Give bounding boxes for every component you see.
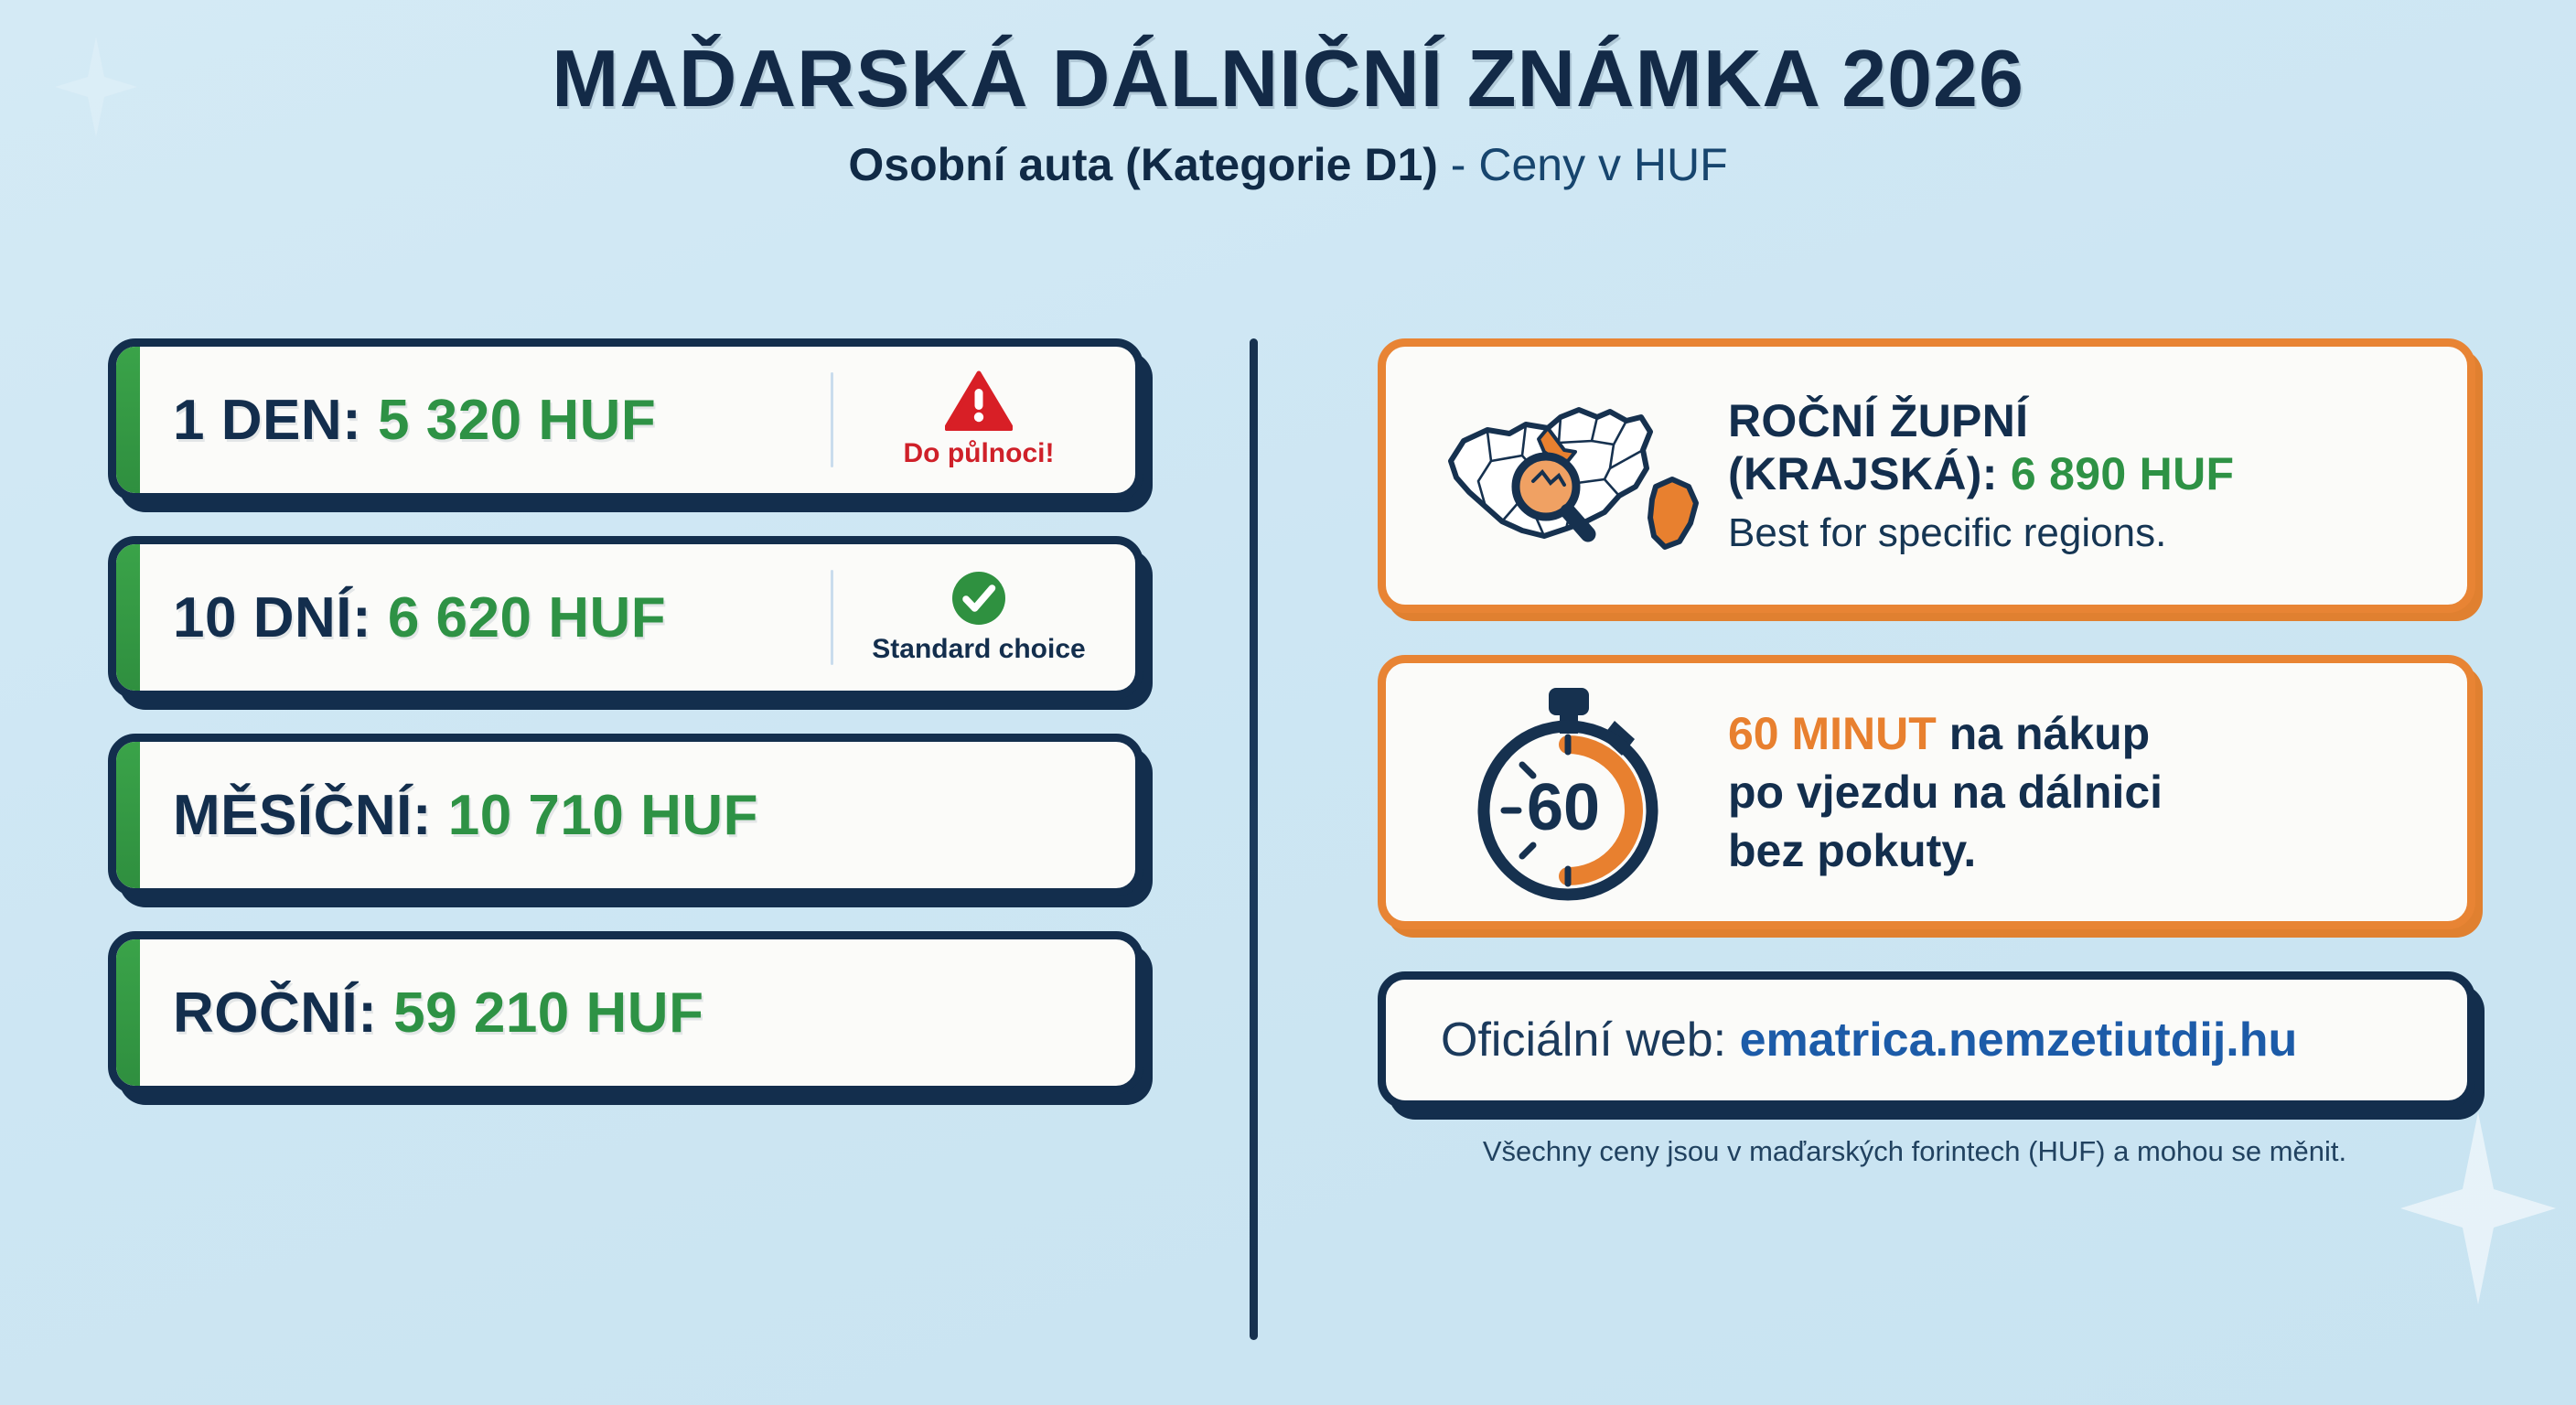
page-subtitle: Osobní auta (Kategorie D1) - Ceny v HUF (0, 140, 2576, 190)
county-card-body: ROČNÍ ŽUPNÍ (KRAJSKÁ): 6 890 HUF Best fo… (1719, 394, 2436, 558)
price-card-monthly[interactable]: MĚSÍČNÍ: 10 710 HUF (108, 734, 1143, 896)
county-title-line2: (KRAJSKÁ): 6 890 HUF (1728, 447, 2436, 500)
warning-triangle-icon (945, 370, 1013, 431)
detached-county-shape (1650, 479, 1696, 547)
check-circle-icon (950, 570, 1007, 627)
info-card-county-pass[interactable]: ROČNÍ ŽUPNÍ (KRAJSKÁ): 6 890 HUF Best fo… (1378, 338, 2475, 613)
badge-divider (831, 570, 833, 665)
stopwatch-line-2: po vjezdu na dálnici (1728, 763, 2436, 821)
price-card-1-day[interactable]: 1 DEN: 5 320 HUF Do půlnoci! (108, 338, 1143, 501)
subtitle-currency: Ceny v HUF (1478, 139, 1727, 190)
green-accent-bar (116, 347, 140, 493)
official-web-label: Oficiální web: (1441, 1014, 1726, 1067)
green-accent-bar (116, 939, 140, 1086)
price-label: MĚSÍČNÍ: (173, 784, 432, 847)
county-title-line1: ROČNÍ ŽUPNÍ (1728, 394, 2436, 447)
info-card-60-minutes[interactable]: 60 60 MINUT na nákup po vjezdu na dálnic… (1378, 655, 2475, 929)
stopwatch-card-body: 60 MINUT na nákup po vjezdu na dálnici b… (1719, 704, 2436, 880)
county-card-subtitle: Best for specific regions. (1728, 509, 2436, 558)
official-web-card[interactable]: Oficiální web: ematrica.nemzetiutdij.hu (1378, 971, 2475, 1109)
county-price-value: 6 890 HUF (2011, 448, 2234, 499)
vertical-divider (1250, 338, 1258, 1340)
stopwatch-line1-rest: na nákup (1937, 708, 2150, 759)
hungary-county-map-icon (1431, 384, 1705, 567)
stopwatch-highlight: 60 MINUT (1728, 708, 1937, 759)
price-value: 5 320 HUF (378, 389, 656, 452)
stopwatch-card-text: 60 MINUT na nákup po vjezdu na dálnici b… (1728, 704, 2436, 880)
price-text: 10 DNÍ: 6 620 HUF (173, 585, 666, 650)
subtitle-separator: - (1438, 139, 1478, 190)
stopwatch-icon-wrap: 60 (1417, 681, 1719, 905)
price-value: 59 210 HUF (393, 981, 703, 1045)
price-row: 10 DNÍ: 6 620 HUF (116, 585, 831, 650)
green-accent-bar (116, 742, 140, 888)
price-text: 1 DEN: 5 320 HUF (173, 388, 656, 453)
price-text: MĚSÍČNÍ: 10 710 HUF (173, 783, 758, 848)
page-title: MAĎARSKÁ DÁLNIČNÍ ZNÁMKA 2026 (0, 35, 2576, 122)
county-title-label: (KRAJSKÁ): (1728, 448, 1998, 499)
official-web-text: Oficiální web: ematrica.nemzetiutdij.hu (1441, 1013, 2297, 1067)
disclaimer-text: Všechny ceny jsou v maďarských forintech… (1378, 1134, 2475, 1168)
stopwatch-line-1: 60 MINUT na nákup (1728, 704, 2436, 763)
header: MAĎARSKÁ DÁLNIČNÍ ZNÁMKA 2026 Osobní aut… (0, 0, 2576, 190)
stopwatch-line-3: bez pokuty. (1728, 821, 2436, 880)
county-card-title: ROČNÍ ŽUPNÍ (KRAJSKÁ): 6 890 HUF (1728, 394, 2436, 500)
subtitle-category: Osobní auta (Kategorie D1) (848, 139, 1438, 190)
price-value: 10 710 HUF (448, 784, 758, 847)
map-icon-wrap (1417, 384, 1719, 567)
price-list-column: 1 DEN: 5 320 HUF Do půlnoci! 10 DNÍ: (0, 338, 1217, 1363)
price-label: ROČNÍ: (173, 981, 377, 1045)
price-row: 1 DEN: 5 320 HUF (116, 388, 831, 453)
price-row: MĚSÍČNÍ: 10 710 HUF (116, 783, 1135, 848)
price-label: 1 DEN: (173, 389, 361, 452)
badge-divider (831, 372, 833, 467)
price-text: ROČNÍ: 59 210 HUF (173, 981, 703, 1046)
price-card-yearly[interactable]: ROČNÍ: 59 210 HUF (108, 931, 1143, 1094)
content-area: 1 DEN: 5 320 HUF Do půlnoci! 10 DNÍ: (0, 338, 2576, 1363)
badge-note: Do půlnoci! (904, 438, 1055, 469)
info-column: ROČNÍ ŽUPNÍ (KRAJSKÁ): 6 890 HUF Best fo… (1290, 338, 2576, 1363)
price-label: 10 DNÍ: (173, 586, 371, 649)
price-row: ROČNÍ: 59 210 HUF (116, 981, 1135, 1046)
price-value: 6 620 HUF (388, 586, 666, 649)
green-accent-bar (116, 544, 140, 691)
badge-note: Standard choice (872, 634, 1085, 665)
stopwatch-60-icon: 60 (1461, 681, 1676, 905)
price-card-10-days[interactable]: 10 DNÍ: 6 620 HUF Standard choice (108, 536, 1143, 699)
column-divider-wrap (1217, 338, 1290, 1363)
price-badge: Standard choice (843, 570, 1135, 665)
price-badge: Do půlnoci! (843, 370, 1135, 469)
stopwatch-value: 60 (1526, 771, 1599, 844)
official-web-url[interactable]: ematrica.nemzetiutdij.hu (1740, 1014, 2298, 1067)
